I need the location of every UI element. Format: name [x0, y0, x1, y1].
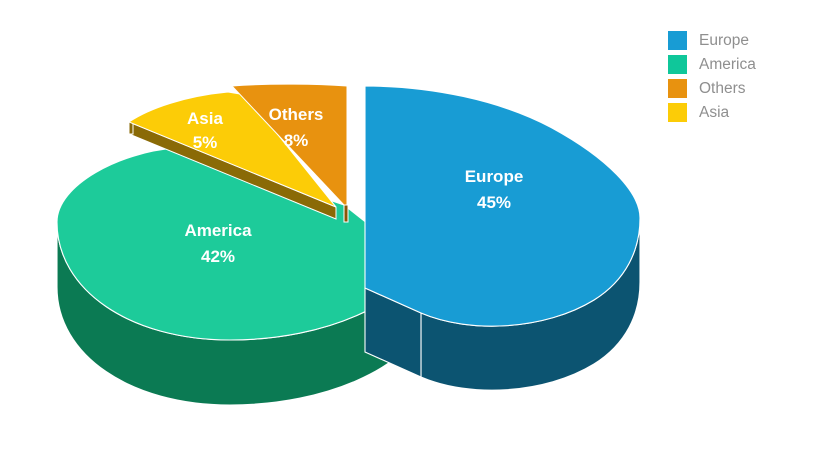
legend-label-europe: Europe: [699, 31, 749, 50]
legend-label-america: America: [699, 55, 756, 74]
pie-label-asia-name: Asia: [187, 109, 223, 128]
legend-swatch-others-icon: [668, 79, 687, 98]
chart-legend: Europe America Others Asia: [668, 28, 828, 124]
legend-item-europe[interactable]: Europe: [668, 28, 828, 52]
pie-label-others-name: Others: [269, 105, 324, 124]
legend-label-asia: Asia: [699, 103, 729, 122]
pie-label-europe-value: 45%: [477, 193, 511, 212]
legend-item-america[interactable]: America: [668, 52, 828, 76]
pie-label-others-value: 8%: [284, 131, 309, 150]
pie-slice-europe[interactable]: [365, 86, 640, 390]
pie-label-america-name: America: [184, 221, 252, 240]
legend-swatch-america-icon: [668, 55, 687, 74]
legend-item-asia[interactable]: Asia: [668, 100, 828, 124]
legend-swatch-asia-icon: [668, 103, 687, 122]
pie-label-asia-value: 5%: [193, 133, 218, 152]
legend-item-others[interactable]: Others: [668, 76, 828, 100]
pie-slice-others-side: [344, 205, 348, 222]
pie-chart-container: Europe 45% America 42% Others 8% Asia 5%…: [0, 0, 834, 450]
legend-swatch-europe-icon: [668, 31, 687, 50]
pie-label-europe-name: Europe: [465, 167, 524, 186]
legend-label-others: Others: [699, 79, 746, 98]
pie-label-america-value: 42%: [201, 247, 235, 266]
